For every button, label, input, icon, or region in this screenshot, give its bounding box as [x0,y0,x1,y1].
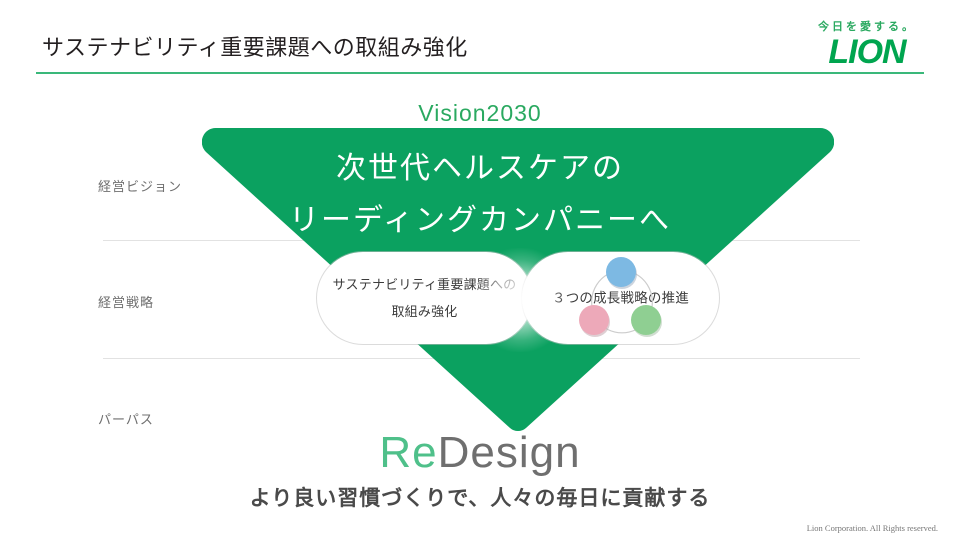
pill-left-line-2: 取組み強化 [317,298,532,325]
logo-tagline: 今日を愛する。 [802,22,932,33]
logo-wordmark: LION [802,35,932,69]
title-underline-rule [36,72,924,74]
strategy-pill-materiality-text: サステナビリティ重要課題への 取組み強化 [317,271,532,325]
page-title: サステナビリティ重要課題への取組み強化 [42,30,468,62]
lion-logo: 今日を愛する。 LION [802,22,932,69]
redesign-suffix: Design [438,428,581,477]
vision-heading-line-2: リーディングカンパニーへ [0,195,960,247]
strategy-pill-growth-text: ３つの成長戦略の推進 [522,285,719,312]
strategy-pill-growth[interactable]: ３つの成長戦略の推進 [522,252,719,344]
strategy-pill-materiality[interactable]: サステナビリティ重要課題への 取組み強化 [317,252,532,344]
row-label-strategy: 経営戦略 [98,292,154,311]
slide-canvas: サステナビリティ重要課題への取組み強化 今日を愛する。 LION 経営ビジョン … [0,0,960,541]
redesign-prefix: Re [379,428,437,477]
vision-heading-line-1: 次世代ヘルスケアの [0,143,960,195]
redesign-wordmark: ReDesign [0,430,960,476]
row-label-purpose: パーパス [98,409,154,428]
vision-caption: Vision2030 [0,100,960,127]
pill-left-line-1: サステナビリティ重要課題への [317,271,532,298]
copyright-notice: Lion Corporation. All Rights reserved. [807,523,938,533]
vision-heading: 次世代ヘルスケアの リーディングカンパニーへ [0,143,960,247]
purpose-statement: より良い習慣づくりで、人々の毎日に貢献する [0,482,960,512]
